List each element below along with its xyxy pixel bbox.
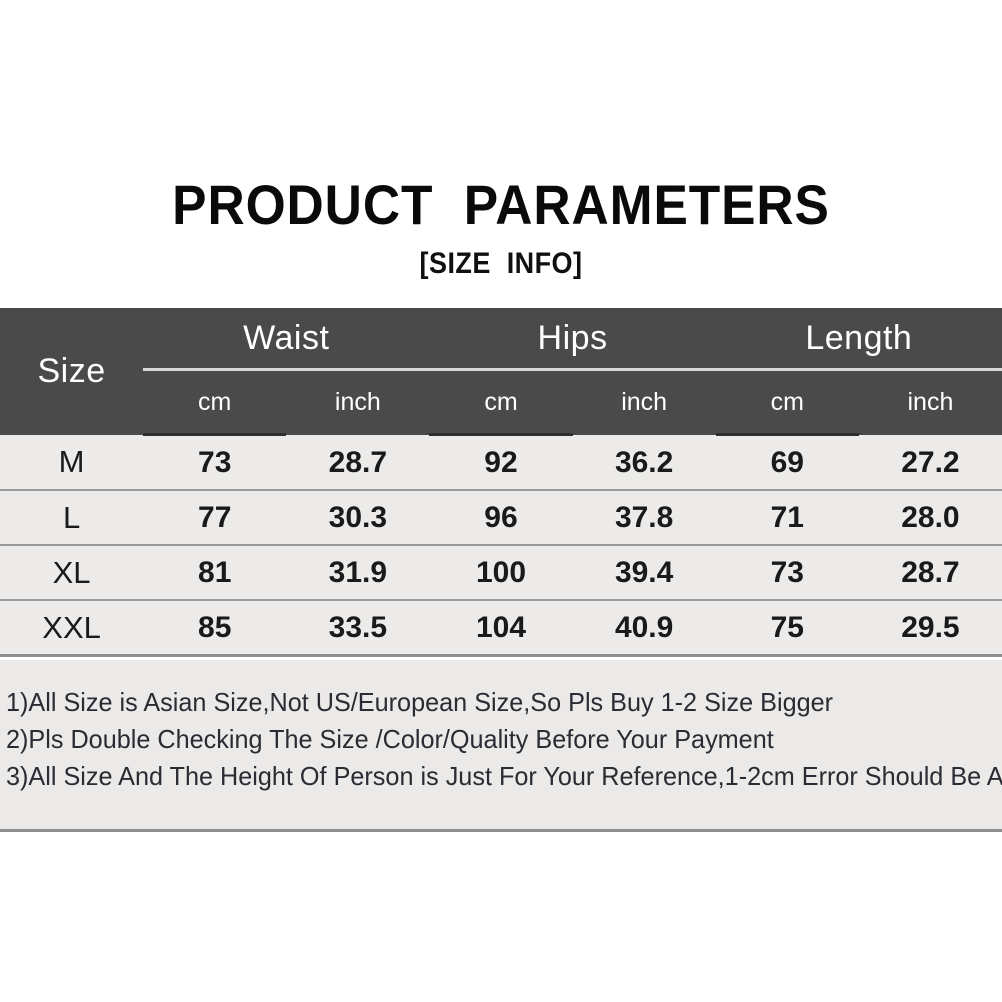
column-group-length: Length (716, 308, 1002, 370)
unit-header-row: cm inch cm inch cm inch (0, 370, 1002, 435)
title-block: PRODUCT PARAMETERS [SIZE INFO] (0, 176, 1002, 281)
cell-hips-cm: 96 (429, 490, 572, 545)
cell-waist-inch: 28.7 (286, 435, 429, 491)
column-header-length-cm: cm (716, 370, 859, 435)
cell-size: M (0, 435, 143, 491)
column-header-waist-cm: cm (143, 370, 286, 435)
group-header-row: Size Waist Hips Length (0, 308, 1002, 370)
cell-waist-inch: 33.5 (286, 600, 429, 656)
cell-size: L (0, 490, 143, 545)
cell-length-inch: 27.2 (859, 435, 1002, 491)
cell-hips-inch: 36.2 (573, 435, 716, 491)
table-body: M 73 28.7 92 36.2 69 27.2 L 77 30.3 96 3… (0, 435, 1002, 656)
column-header-hips-cm: cm (429, 370, 572, 435)
column-header-size: Size (0, 308, 143, 435)
cell-waist-inch: 31.9 (286, 545, 429, 600)
cell-hips-inch: 40.9 (573, 600, 716, 656)
cell-waist-cm: 85 (143, 600, 286, 656)
page-subtitle: [SIZE INFO] (50, 247, 952, 281)
note-item: 2)Pls Double Checking The Size /Color/Qu… (6, 721, 968, 758)
cell-hips-cm: 100 (429, 545, 572, 600)
cell-waist-cm: 73 (143, 435, 286, 491)
column-header-hips-inch: inch (573, 370, 716, 435)
cell-length-inch: 28.0 (859, 490, 1002, 545)
cell-size: XL (0, 545, 143, 600)
cell-length-inch: 28.7 (859, 545, 1002, 600)
cell-length-inch: 29.5 (859, 600, 1002, 656)
column-header-length-inch: inch (859, 370, 1002, 435)
table-head: Size Waist Hips Length cm inch cm inch c… (0, 308, 1002, 435)
cell-hips-cm: 92 (429, 435, 572, 491)
size-table: Size Waist Hips Length cm inch cm inch c… (0, 308, 1002, 657)
cell-waist-inch: 30.3 (286, 490, 429, 545)
cell-length-cm: 75 (716, 600, 859, 656)
cell-hips-inch: 37.8 (573, 490, 716, 545)
cell-length-cm: 71 (716, 490, 859, 545)
note-item: 1)All Size is Asian Size,Not US/European… (6, 684, 968, 721)
cell-size: XXL (0, 600, 143, 656)
page-title: PRODUCT PARAMETERS (40, 176, 962, 235)
cell-length-cm: 73 (716, 545, 859, 600)
size-chart-page: PRODUCT PARAMETERS [SIZE INFO] Size Wais… (0, 0, 1002, 1002)
table-row: M 73 28.7 92 36.2 69 27.2 (0, 435, 1002, 491)
cell-waist-cm: 77 (143, 490, 286, 545)
column-group-hips: Hips (429, 308, 715, 370)
column-group-waist: Waist (143, 308, 429, 370)
table-row: XXL 85 33.5 104 40.9 75 29.5 (0, 600, 1002, 656)
table-row: L 77 30.3 96 37.8 71 28.0 (0, 490, 1002, 545)
cell-length-cm: 69 (716, 435, 859, 491)
cell-hips-inch: 39.4 (573, 545, 716, 600)
note-item: 3)All Size And The Height Of Person is J… (6, 758, 968, 795)
table-row: XL 81 31.9 100 39.4 73 28.7 (0, 545, 1002, 600)
size-table-container: Size Waist Hips Length cm inch cm inch c… (0, 308, 1002, 657)
column-header-waist-inch: inch (286, 370, 429, 435)
cell-waist-cm: 81 (143, 545, 286, 600)
cell-hips-cm: 104 (429, 600, 572, 656)
notes-block: 1)All Size is Asian Size,Not US/European… (0, 658, 1002, 832)
